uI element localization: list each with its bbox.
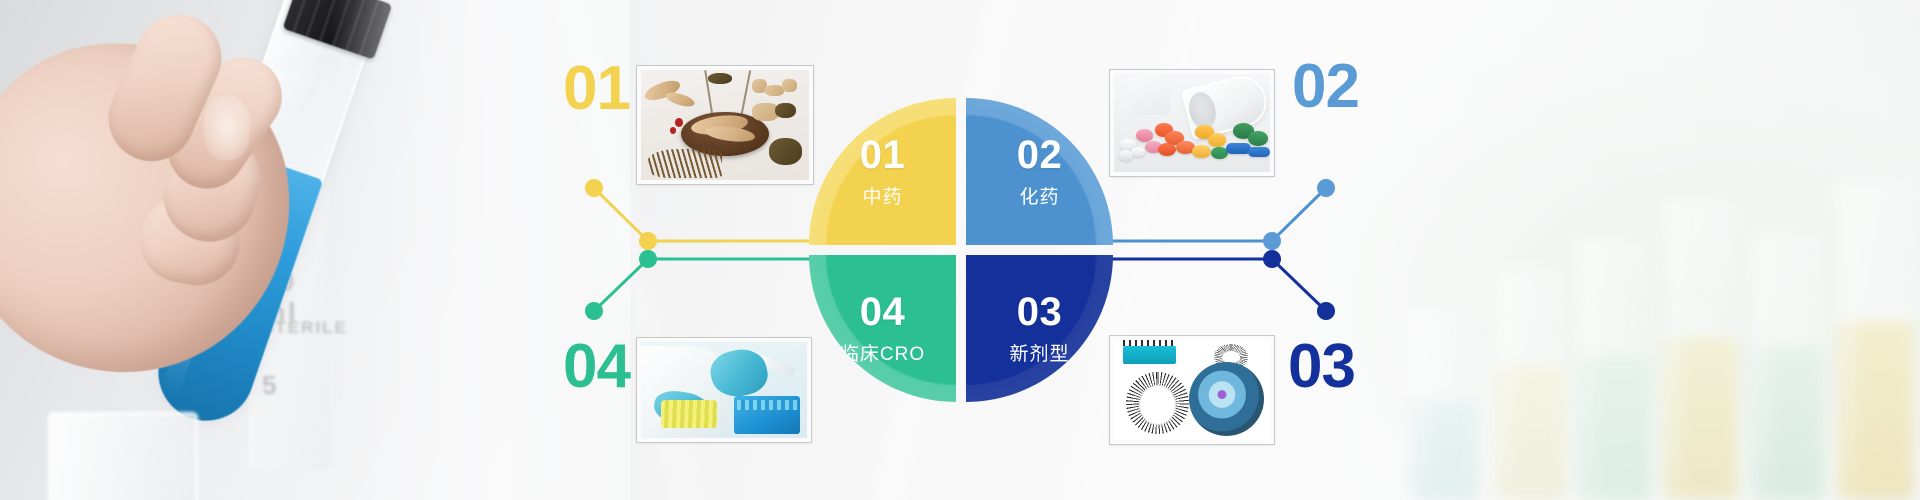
segment-02-label: 化药	[1019, 182, 1059, 209]
herb-slice	[782, 79, 797, 92]
connector-dot-02-junction	[1263, 232, 1281, 250]
pill-pink	[1136, 129, 1153, 142]
photo-card-pills[interactable]	[1110, 70, 1274, 176]
herb-ginseng-root	[664, 90, 696, 109]
segment-02-number: 02	[1017, 135, 1063, 175]
diagram-nanoparticle-cross-section	[1189, 362, 1264, 436]
connector-dot-04-junction	[639, 250, 657, 268]
photo-liposome-diagram	[1114, 340, 1270, 440]
connector-line-02	[1110, 188, 1326, 241]
well-plate-blue	[734, 396, 800, 434]
photo-pills-and-bottle	[1114, 74, 1270, 172]
herb-slice	[765, 85, 783, 96]
herb-dark-bark	[775, 103, 795, 118]
pipette-tips-yellow	[661, 400, 717, 429]
photo-tcm-herbs	[641, 70, 809, 180]
outer-number-01: 01	[563, 58, 630, 120]
segment-03-label: 新剂型	[1009, 339, 1069, 366]
connector-dot-03-junction	[1263, 250, 1281, 268]
segment-03-number: 03	[1017, 292, 1063, 332]
connector-dot-01-outer	[585, 179, 603, 197]
photo-card-lab-assay[interactable]	[637, 338, 811, 442]
pill-yellow	[1192, 145, 1211, 159]
photo-card-liposome[interactable]	[1110, 336, 1274, 444]
pill-blue-capsule	[1248, 147, 1270, 158]
diagram-liposome-lumen	[1139, 385, 1176, 425]
connector-dot-01-junction	[639, 232, 657, 250]
connector-dot-02-outer	[1317, 179, 1335, 197]
pill-yellow	[1208, 133, 1227, 147]
pill-orange	[1158, 143, 1177, 157]
pill-white	[1131, 147, 1145, 158]
connector-line-01	[594, 188, 812, 241]
pill-green	[1211, 147, 1228, 160]
diagram-monolayer	[1123, 346, 1176, 364]
photo-lab-pipetting	[641, 342, 807, 438]
outer-number-03: 03	[1288, 336, 1355, 398]
segment-01-number: 01	[860, 135, 906, 175]
segment-01-label: 中药	[862, 182, 902, 209]
connector-line-04	[594, 259, 812, 311]
background-jar	[1130, 76, 1171, 115]
herb-dried-roots	[648, 149, 722, 178]
connector-dot-03-outer	[1317, 302, 1335, 320]
segment-03[interactable]: 03 新剂型	[966, 255, 1113, 402]
pill-white	[1119, 150, 1133, 161]
outer-number-02: 02	[1292, 56, 1359, 118]
photo-card-tcm-herbs[interactable]	[637, 66, 813, 184]
segment-04[interactable]: 04 临床CRO	[809, 255, 956, 402]
connector-dot-04-outer	[585, 302, 603, 320]
connector-line-03	[1110, 259, 1326, 311]
segment-01[interactable]: 01 中药	[809, 98, 956, 245]
herb-red-berry	[670, 127, 677, 134]
pill-green	[1248, 131, 1268, 146]
banner-canvas: 10 ml STERILE 5	[0, 0, 1920, 500]
herb-dark-bark	[708, 73, 732, 84]
herb-dark-buds	[769, 138, 803, 164]
segment-donut: 01 中药 02 化药 03 新剂型 04 临床CRO	[809, 98, 1113, 402]
outer-number-04: 04	[563, 336, 630, 398]
scale-chain	[741, 70, 751, 114]
segment-02[interactable]: 02 化药	[966, 98, 1113, 245]
herb-red-berry	[675, 118, 683, 127]
segment-04-label: 临床CRO	[840, 339, 925, 366]
segment-04-number: 04	[860, 292, 906, 332]
